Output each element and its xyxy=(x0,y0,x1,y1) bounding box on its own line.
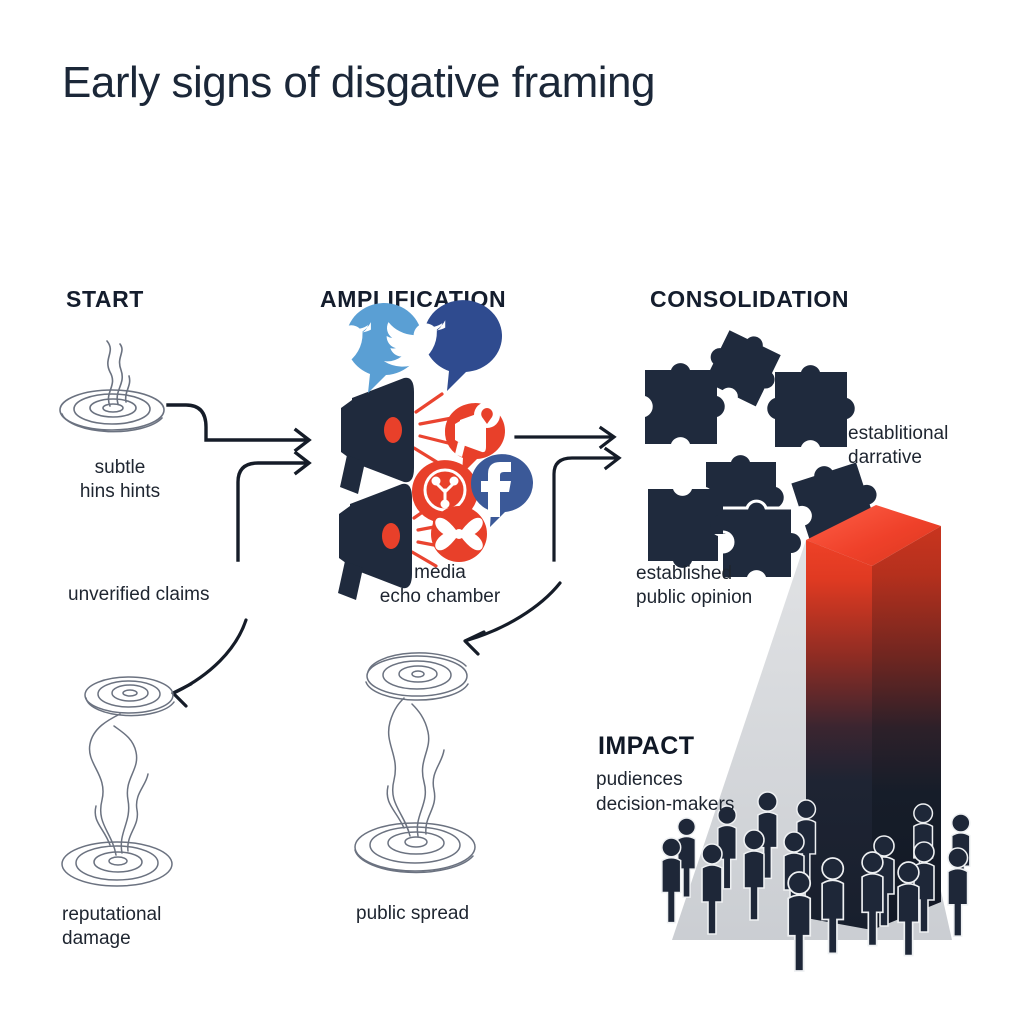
impact-heading: IMPACT xyxy=(598,732,694,761)
stage-heading-start: START xyxy=(66,286,144,313)
red-share-bubble-icon xyxy=(412,460,478,538)
megaphone-rays xyxy=(412,394,452,566)
label-unverified-claims: unverified claims xyxy=(68,583,210,607)
arrow-down-left-to-damage xyxy=(173,620,246,706)
label-line: reputational xyxy=(62,903,232,927)
label-subtle-hints: subtle hins hints xyxy=(40,456,200,505)
ripple-smoke-public-spread xyxy=(355,653,475,873)
label-line: media xyxy=(340,561,540,585)
label-line: pudiences xyxy=(596,768,816,793)
label-line: decision-makers xyxy=(596,793,816,818)
twitter-bird-dark-icon xyxy=(384,300,502,391)
label-public-spread: public spread xyxy=(356,902,469,926)
label-line: damage xyxy=(62,927,232,951)
stage-heading-consolidation: CONSOLIDATION xyxy=(650,286,849,313)
label-line: darrative xyxy=(848,446,1024,470)
ripple-smoke-start xyxy=(60,341,164,432)
label-line: establitional xyxy=(848,422,1024,446)
arrow-start-to-amplification-1 xyxy=(168,405,309,450)
arrow-start-to-amplification-2 xyxy=(238,453,309,560)
arrow-amplification-to-consolidation-2 xyxy=(554,449,619,560)
facebook-f-icon xyxy=(471,454,533,527)
stage-heading-amplification: AMPLIFICATION xyxy=(320,286,506,313)
ripple-smoke-reputational-damage xyxy=(62,677,174,886)
label-line: echo chamber xyxy=(340,585,540,609)
red-megaphone-bubble-icon xyxy=(445,402,505,474)
label-line: established xyxy=(636,562,836,586)
label-media-echo-chamber: media echo chamber xyxy=(340,561,540,610)
arrow-amplification-to-consolidation-1 xyxy=(516,428,614,447)
crowd-of-people-icon xyxy=(662,792,970,971)
label-established-public-opinion: established public opinion xyxy=(636,562,836,611)
label-line: subtle xyxy=(40,456,200,480)
page-title: Early signs of disgative framing xyxy=(62,58,962,109)
megaphone-top-icon xyxy=(340,378,414,494)
vector-illustration-layer xyxy=(0,0,1024,1024)
infographic-canvas: Early signs of disgative framing START A… xyxy=(0,0,1024,1024)
label-establitional-narrative: establitional darrative xyxy=(848,422,1024,471)
red-propeller-icon xyxy=(431,506,487,562)
label-line: public opinion xyxy=(636,586,836,610)
label-reputational-damage: reputational damage xyxy=(62,903,232,952)
impact-sublabels: pudiences decision-makers xyxy=(596,768,816,817)
label-line: hins hints xyxy=(40,480,200,504)
twitter-bird-light-icon xyxy=(310,303,422,393)
